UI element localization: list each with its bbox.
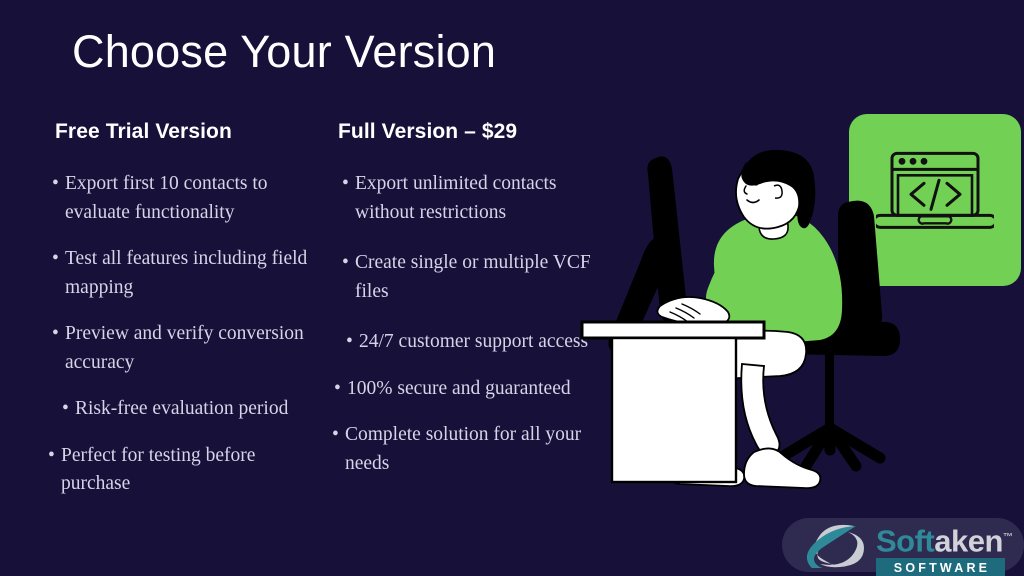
- list-item: • Perfect for testing before purchase: [48, 442, 320, 499]
- logo-text: Softaken™: [876, 522, 1013, 556]
- column-heading-free-trial: Free Trial Version: [55, 120, 320, 144]
- list-item-text: Complete solution for all your needs: [345, 424, 581, 474]
- logo-tagline-text: SOFTWARE: [891, 561, 990, 575]
- bullet-list-full-version: • Export unlimited contacts without rest…: [336, 170, 598, 478]
- bullet-dot-icon: •: [48, 442, 55, 471]
- softaken-s-swoosh: [806, 522, 866, 568]
- list-item-text: Test all features including field mappin…: [65, 248, 307, 298]
- bullet-dot-icon: •: [52, 245, 59, 274]
- logo-wordmark: Softaken™ SOFTWARE: [876, 522, 1013, 576]
- logo-text-soft: Soft: [876, 523, 934, 558]
- column-full-version: Full Version – $29 • Export unlimited co…: [336, 120, 598, 496]
- person-at-desk-illustration: [560, 150, 960, 510]
- logo-tagline-bar: SOFTWARE: [876, 558, 1005, 576]
- illustration-svg: [560, 150, 960, 510]
- list-item: • Risk-free evaluation period: [62, 395, 320, 424]
- bullet-list-free-trial: • Export first 10 contacts to evaluate f…: [52, 170, 320, 499]
- trademark-icon: ™: [1003, 532, 1013, 543]
- bullet-dot-icon: •: [342, 170, 349, 199]
- bullet-dot-icon: •: [332, 421, 339, 450]
- bullet-dot-icon: •: [62, 395, 69, 424]
- list-item-text: Export first 10 contacts to evaluate fun…: [65, 173, 268, 223]
- list-item-text: Create single or multiple VCF files: [355, 252, 591, 302]
- list-item: • Test all features including field mapp…: [52, 245, 320, 302]
- bullet-dot-icon: •: [342, 249, 349, 278]
- page-title: Choose Your Version: [72, 26, 496, 78]
- list-item-text: 100% secure and guaranteed: [347, 378, 571, 399]
- list-item: • Preview and verify conversion accuracy: [52, 320, 320, 377]
- list-item-text: Risk-free evaluation period: [75, 398, 288, 419]
- bullet-dot-icon: •: [346, 328, 353, 357]
- logo-text-aken: aken: [934, 523, 1003, 558]
- list-item-text: Preview and verify conversion accuracy: [65, 323, 304, 373]
- bullet-dot-icon: •: [52, 170, 59, 199]
- bullet-dot-icon: •: [52, 320, 59, 349]
- list-item-text: 24/7 customer support access: [359, 331, 588, 352]
- column-free-trial: Free Trial Version • Export first 10 con…: [52, 120, 320, 517]
- list-item-text: Perfect for testing before purchase: [61, 445, 255, 495]
- slide-canvas: Choose Your Version Free Trial Version •…: [0, 0, 1024, 576]
- list-item: • 100% secure and guaranteed: [334, 375, 598, 404]
- list-item-text: Export unlimited contacts without restri…: [355, 173, 556, 223]
- softaken-logo: Softaken™ SOFTWARE: [782, 514, 1024, 576]
- list-item: • Export first 10 contacts to evaluate f…: [52, 170, 320, 227]
- list-item: • Complete solution for all your needs: [332, 421, 598, 478]
- bullet-dot-icon: •: [334, 375, 341, 404]
- column-heading-full-version: Full Version – $29: [338, 120, 598, 144]
